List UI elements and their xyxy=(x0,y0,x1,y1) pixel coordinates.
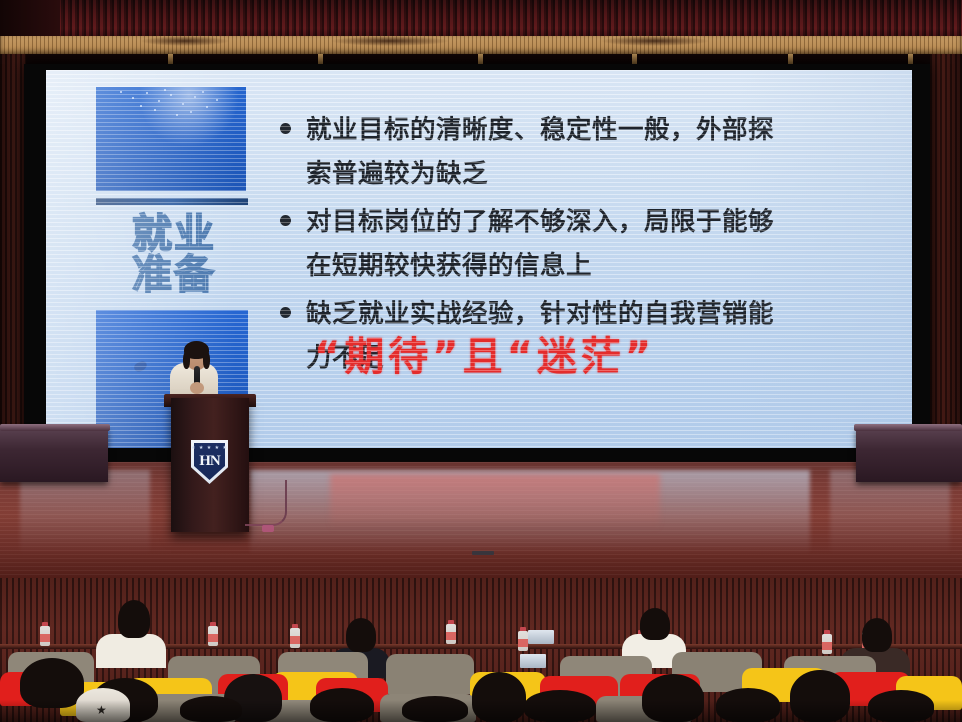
audience-member-head xyxy=(862,618,892,652)
audience-member-shoulders xyxy=(96,634,166,668)
valance-smudge-3 xyxy=(600,36,710,46)
bullet-marker-icon xyxy=(280,215,291,226)
shield-icon: ★ ★ ★ ★ ★ HN xyxy=(191,440,228,484)
curtain-shadow-left xyxy=(0,0,60,40)
water-bottle xyxy=(518,627,528,651)
bullet-marker-icon xyxy=(280,307,291,318)
bullet-1-line-1: 就业目标的清晰度、稳定性一般，外部探 xyxy=(306,108,898,152)
auditorium-photo: 就业 准备 就业目标的清晰度、稳定性一般，外部探 索普遍较为缺乏 对目标岗位的了… xyxy=(0,0,962,722)
stage-rail-right-top xyxy=(854,424,962,431)
seat xyxy=(386,654,474,694)
bullet-marker-icon xyxy=(280,123,291,134)
audience-member-head xyxy=(346,618,376,652)
laptop xyxy=(520,654,546,668)
audience-head-foreground xyxy=(642,674,704,722)
speaker-hair-left xyxy=(183,352,190,369)
bullet-2-line-1: 对目标岗位的了解不够深入，局限于能够 xyxy=(306,200,898,244)
stage-curtain xyxy=(0,0,962,38)
valance-smudge-1 xyxy=(140,36,230,46)
audience-head-foreground xyxy=(790,670,850,722)
water-bottle xyxy=(446,620,456,644)
slide-photo-blob xyxy=(133,360,148,373)
shield-initials: HN xyxy=(191,454,228,469)
speaker-hair-right xyxy=(203,352,210,369)
water-bottle xyxy=(208,622,218,646)
audience-head-foreground xyxy=(472,672,526,722)
bullet-2-line-2: 在短期较快获得的信息上 xyxy=(306,244,898,288)
podium-cable xyxy=(245,480,287,526)
slide-title-line-1: 就业 xyxy=(94,214,254,255)
audience-member-head xyxy=(118,600,150,638)
audience-head-foreground xyxy=(524,690,596,722)
list-item: 就业目标的清晰度、稳定性一般，外部探 索普遍较为缺乏 xyxy=(278,108,898,196)
stage-rail-left-top xyxy=(0,424,110,431)
audience-head-foreground xyxy=(868,690,934,722)
list-item: 对目标岗位的了解不够深入，局限于能够 在短期较快获得的信息上 xyxy=(278,200,898,288)
audience-head-foreground xyxy=(180,696,242,722)
slide-divider-bar xyxy=(96,198,248,205)
audience-head-foreground xyxy=(402,696,468,722)
audience-head-foreground xyxy=(716,688,780,722)
cable-plug xyxy=(262,525,274,532)
stage-floor xyxy=(0,462,962,580)
water-bottle xyxy=(822,630,832,654)
water-bottle xyxy=(40,622,50,646)
valance-smudge-2 xyxy=(330,36,450,46)
audience-head-foreground xyxy=(20,658,84,708)
speaker-hand xyxy=(190,382,204,394)
shield-stars: ★ ★ ★ ★ ★ xyxy=(191,445,228,451)
laptop xyxy=(528,630,554,644)
stage-rail-left xyxy=(0,428,108,482)
slide-title-line-2: 准备 xyxy=(94,255,254,296)
stage-rail-right xyxy=(856,428,962,482)
water-bottle xyxy=(290,624,300,648)
cap-star-icon: ★ xyxy=(96,704,108,716)
audience-member-head xyxy=(640,608,670,640)
slide-photo-top xyxy=(96,87,246,191)
podium-emblem: ★ ★ ★ ★ ★ HN xyxy=(191,440,228,484)
slide-highlight-text: “期待”且“迷茫” xyxy=(314,324,655,382)
floor-debris xyxy=(472,551,494,555)
bullet-1-line-2: 索普遍较为缺乏 xyxy=(306,152,898,196)
audience-head-foreground xyxy=(310,688,374,722)
slide-section-title: 就业 准备 xyxy=(94,214,254,296)
